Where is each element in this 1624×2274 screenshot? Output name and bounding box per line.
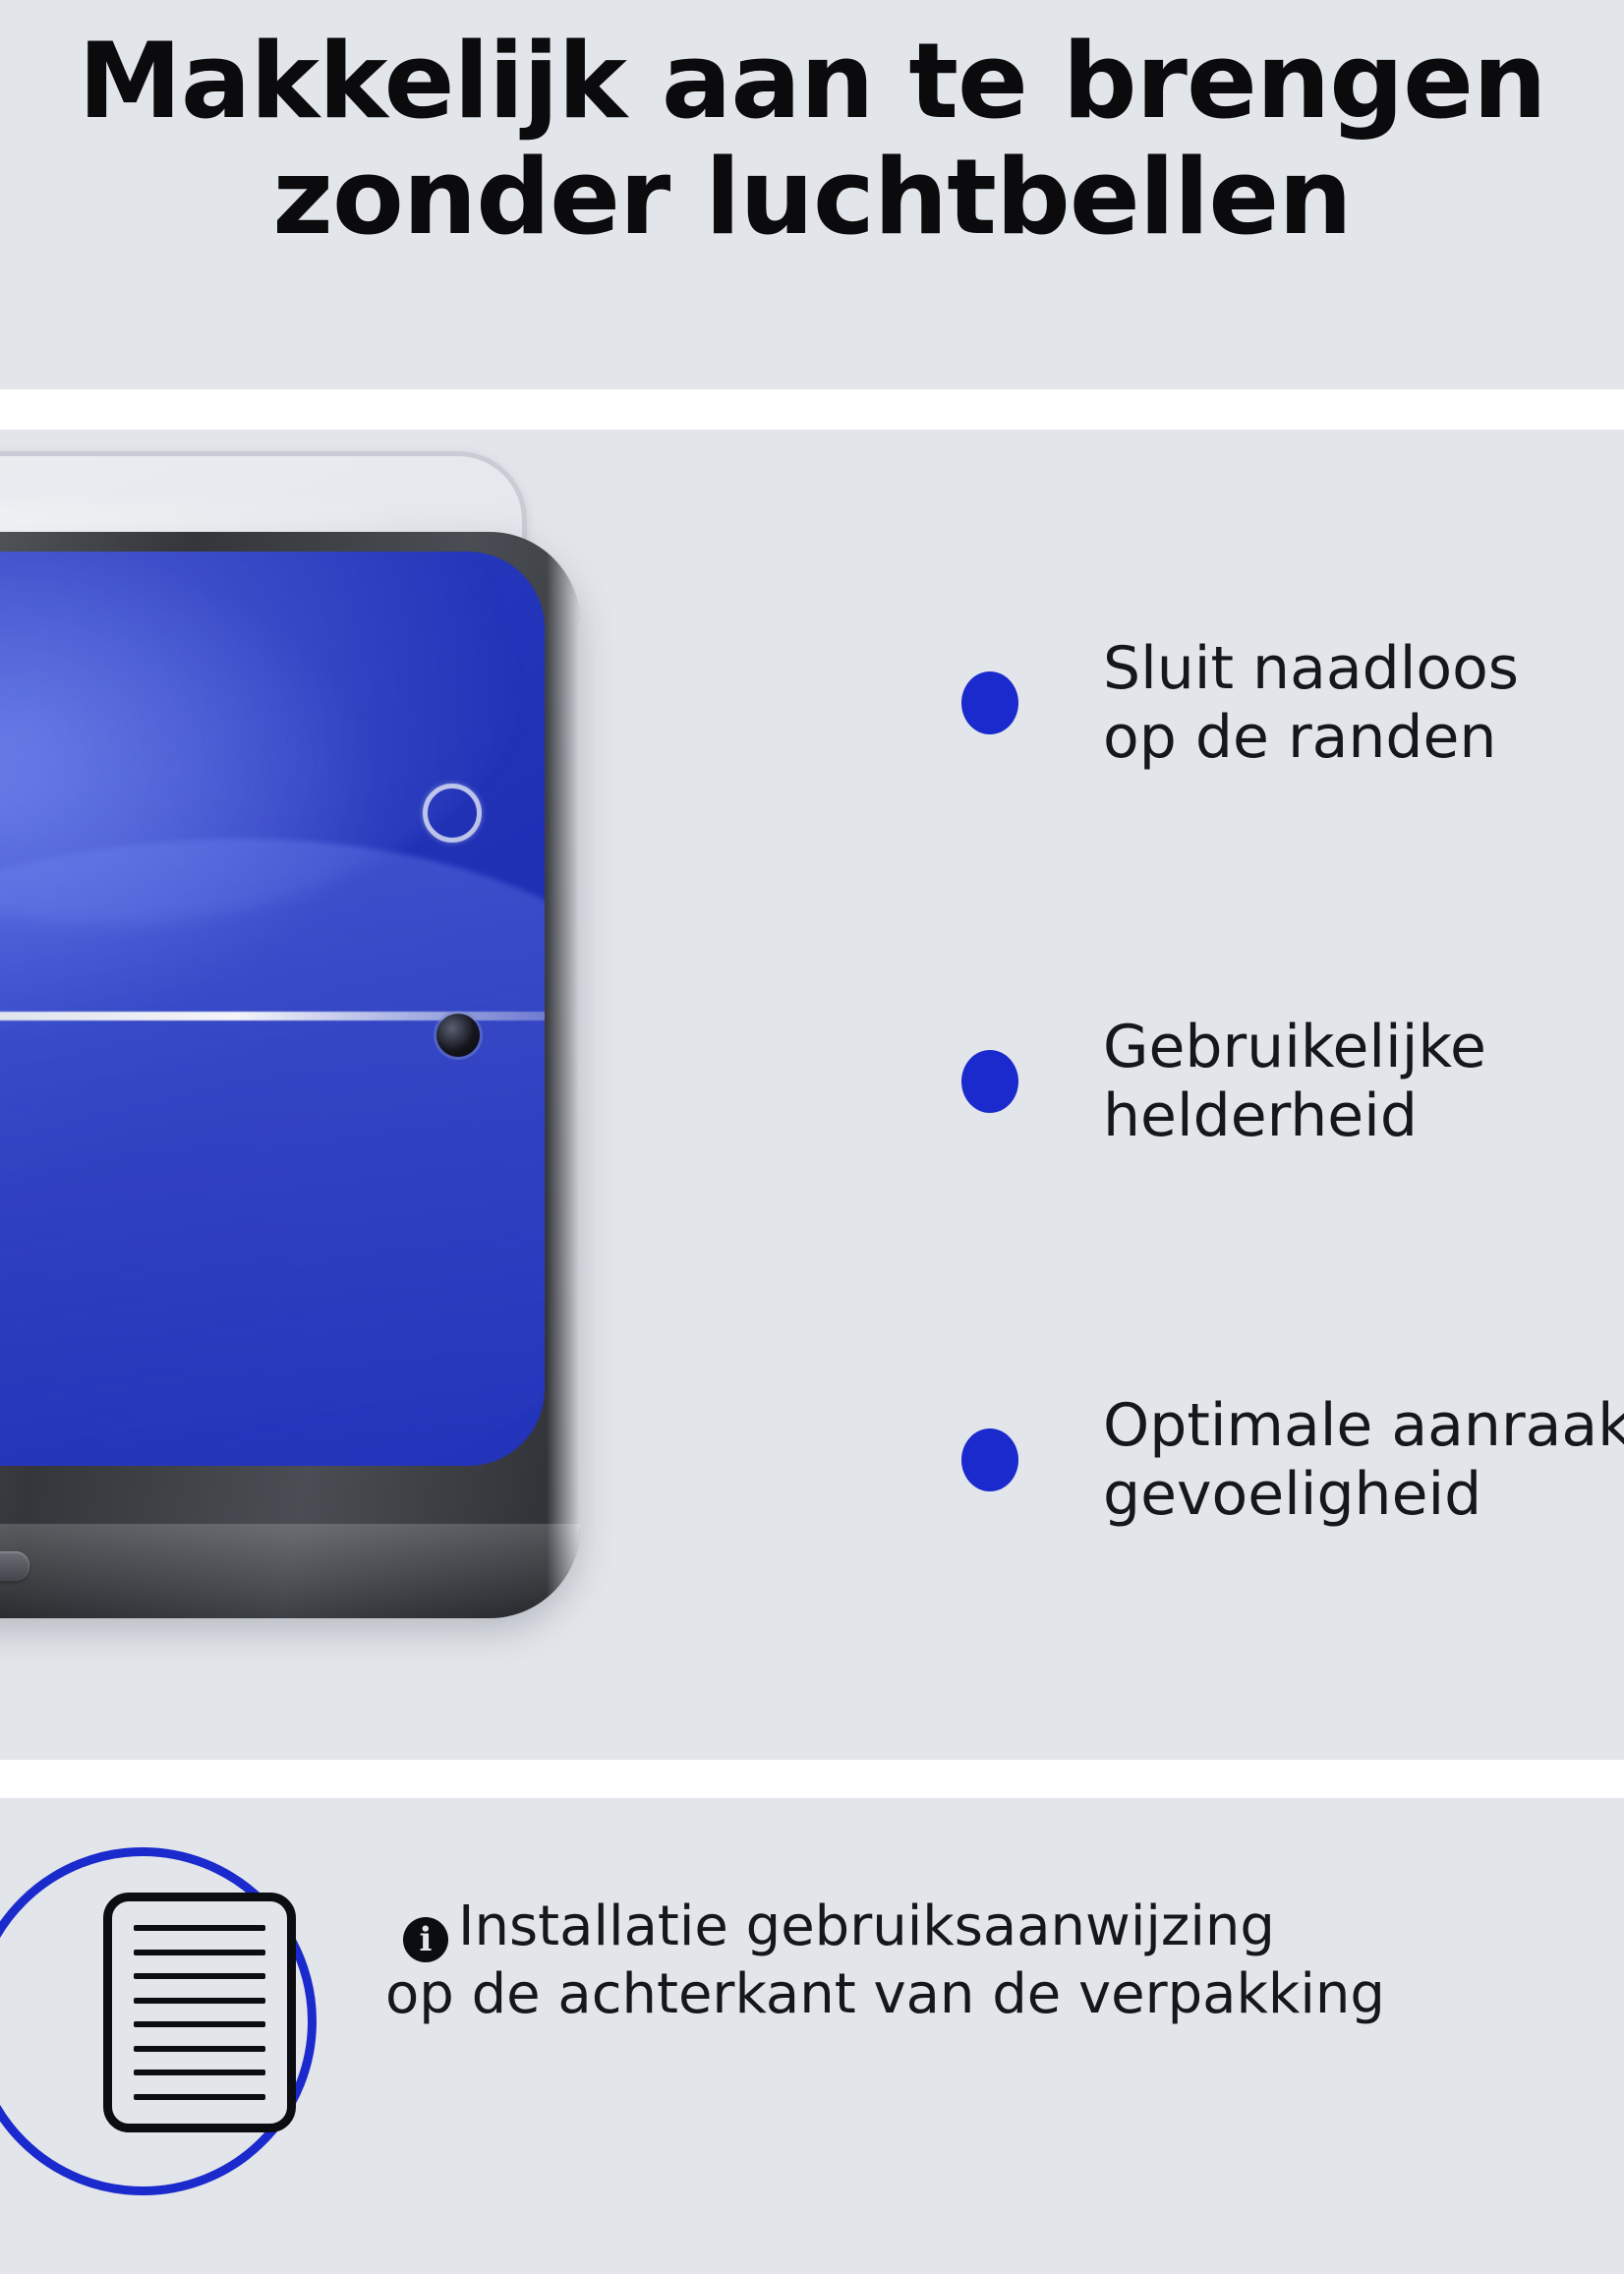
doc-line bbox=[134, 2046, 265, 2052]
feature-item-3-line-1: Optimale aanraak- bbox=[1103, 1391, 1624, 1460]
info-icon: i bbox=[403, 1917, 448, 1962]
feature-item-1-text: Sluit naadloos op de randen bbox=[1103, 634, 1519, 772]
feature-item-3-text: Optimale aanraak- gevoeligheid bbox=[1103, 1391, 1624, 1529]
divider-top bbox=[0, 389, 1624, 430]
header-title-line-2: zonder luchtbellen bbox=[0, 140, 1624, 256]
footer-section: iInstallatie gebruiksaanwijzing op de ac… bbox=[0, 1798, 1624, 2274]
feature-item-2: Gebruikelijke helderheid bbox=[961, 1013, 1624, 1150]
header-title: Makkelijk aan te brengen zonder luchtbel… bbox=[0, 24, 1624, 256]
doc-line bbox=[134, 2094, 265, 2100]
footer-note-line-2: op de achterkant van de verpakking bbox=[385, 1962, 1624, 2027]
footer-note-line-1-text: Installatie gebruiksaanwijzing bbox=[458, 1895, 1275, 1958]
product-photo bbox=[0, 430, 885, 1760]
feature-item-2-line-2: helderheid bbox=[1103, 1081, 1486, 1150]
divider-bottom bbox=[0, 1760, 1624, 1798]
feature-item-3: Optimale aanraak- gevoeligheid bbox=[961, 1391, 1624, 1529]
product-infographic-page: Makkelijk aan te brengen zonder luchtbel… bbox=[0, 0, 1624, 2274]
doc-line bbox=[134, 1925, 265, 1931]
phone-side-button bbox=[0, 1551, 29, 1581]
screen-gradient-swoosh bbox=[0, 760, 545, 1466]
doc-line bbox=[134, 2021, 265, 2027]
doc-line bbox=[134, 1973, 265, 1979]
feature-item-2-text: Gebruikelijke helderheid bbox=[1103, 1013, 1486, 1150]
footer-note-line-1: iInstallatie gebruiksaanwijzing bbox=[403, 1895, 1624, 1962]
feature-item-1-line-1: Sluit naadloos bbox=[1103, 634, 1519, 703]
document-manual-icon bbox=[103, 1893, 296, 2132]
footer-note: iInstallatie gebruiksaanwijzing op de ac… bbox=[403, 1895, 1624, 2027]
bullet-dot-icon bbox=[961, 671, 1018, 734]
header-band: Makkelijk aan te brengen zonder luchtbel… bbox=[0, 0, 1624, 389]
main-section: Sluit naadloos op de randen Gebruikelijk… bbox=[0, 430, 1624, 1760]
feature-item-3-line-2: gevoeligheid bbox=[1103, 1460, 1624, 1529]
phone-body bbox=[0, 532, 580, 1618]
phone-bottom-rail bbox=[0, 1524, 580, 1618]
doc-line bbox=[134, 1998, 265, 2004]
doc-line bbox=[134, 2070, 265, 2075]
doc-line bbox=[134, 1950, 265, 1955]
feature-item-1: Sluit naadloos op de randen bbox=[961, 634, 1624, 772]
phone-screen bbox=[0, 552, 545, 1466]
bullet-dot-icon bbox=[961, 1050, 1018, 1113]
feature-item-1-line-2: op de randen bbox=[1103, 703, 1519, 772]
feature-item-2-line-1: Gebruikelijke bbox=[1103, 1013, 1486, 1081]
camera-lens-icon bbox=[436, 1014, 480, 1057]
feature-list: Sluit naadloos op de randen Gebruikelijk… bbox=[961, 430, 1624, 1760]
camera-ring-icon bbox=[423, 784, 482, 843]
header-title-line-1: Makkelijk aan te brengen bbox=[0, 24, 1624, 140]
phone-side-rail bbox=[547, 532, 580, 1618]
bullet-dot-icon bbox=[961, 1429, 1018, 1491]
